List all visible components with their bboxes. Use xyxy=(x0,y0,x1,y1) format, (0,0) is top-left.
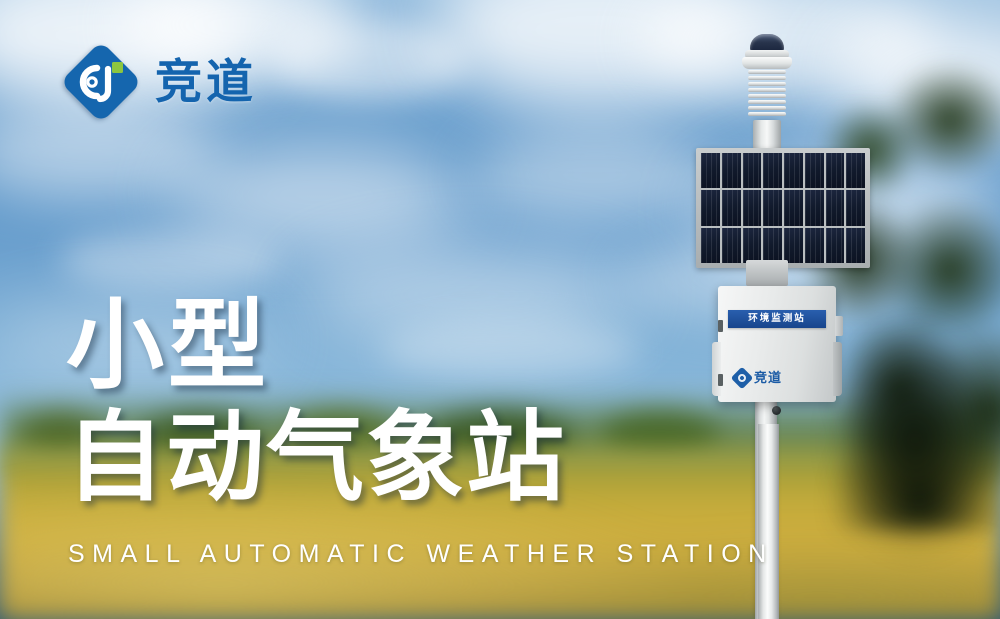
logo-glyph-icon xyxy=(63,44,139,120)
headline-block: 小型 自动气象站 xyxy=(66,297,566,507)
solar-panel-icon xyxy=(696,148,870,268)
enclosure-side-tab xyxy=(835,316,843,336)
enclosure-latch-bottom xyxy=(718,374,723,386)
banner-image: 环境监测站 竞道 竞道 xyxy=(0,0,1000,619)
enclosure-latch-top xyxy=(718,320,723,332)
enclosure-bolt xyxy=(772,406,781,415)
jingdao-diamond-logo-icon xyxy=(63,44,139,120)
radiation-shield xyxy=(748,70,786,120)
panel-mount-bracket xyxy=(746,260,788,286)
enclosure-logo-mark-icon xyxy=(731,367,754,390)
brand-logo: 竞道 xyxy=(63,44,257,120)
subtitle-text: SMALL AUTOMATIC WEATHER STATION xyxy=(68,542,774,567)
enclosure-left-flap xyxy=(712,342,721,396)
solar-panel-frame xyxy=(696,148,870,268)
headline-line-2: 自动气象站 xyxy=(66,409,566,507)
ultrasonic-weather-sensor-icon xyxy=(738,30,796,150)
mounting-pole-lower xyxy=(758,424,779,619)
solar-cells xyxy=(701,153,865,263)
enclosure-banner-text: 环境监测站 xyxy=(748,314,806,324)
headline-line-1: 小型 xyxy=(66,297,566,395)
enclosure-brand-logo: 竞道 xyxy=(734,368,820,388)
weather-station-product: 环境监测站 竞道 xyxy=(688,24,878,619)
enclosure-logo-text: 竞道 xyxy=(754,372,782,385)
sensor-base xyxy=(753,120,781,150)
brand-name-text: 竞道 xyxy=(155,59,257,106)
enclosure-banner: 环境监测站 xyxy=(728,310,826,328)
sensor-cap xyxy=(742,57,792,69)
enclosure-right-flap xyxy=(833,342,842,396)
